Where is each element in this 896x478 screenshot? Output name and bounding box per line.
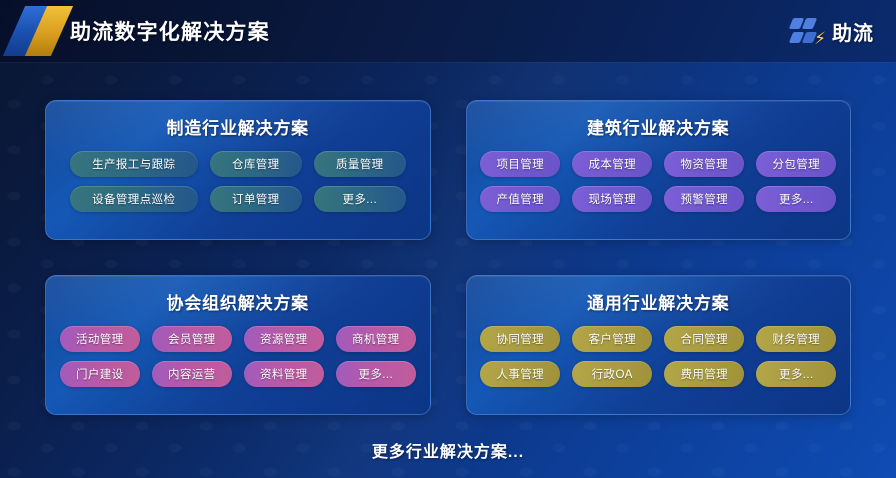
solution-pill[interactable]: 预警管理 (664, 186, 744, 212)
card-title: 建筑行业解决方案 (587, 114, 729, 139)
solution-card-manufacturing: 制造行业解决方案生产报工与跟踪仓库管理质量管理设备管理点巡检订单管理更多... (45, 100, 431, 240)
page-title: 助流数字化解决方案 (70, 16, 270, 46)
pill-row: 设备管理点巡检订单管理更多... (64, 186, 412, 212)
solution-pill[interactable]: 人事管理 (480, 361, 560, 387)
footer-more-solutions: 更多行业解决方案... (0, 438, 896, 462)
solution-pill[interactable]: 仓库管理 (210, 151, 302, 177)
solution-pill[interactable]: 资料管理 (244, 361, 324, 387)
solution-pill[interactable]: 门户建设 (60, 361, 140, 387)
solution-pill[interactable]: 资源管理 (244, 326, 324, 352)
pill-row: 人事管理行政OA费用管理更多... (485, 361, 833, 387)
solution-pill[interactable]: 合同管理 (664, 326, 744, 352)
zhuliu-slash-logo-icon (0, 0, 66, 62)
solution-pill[interactable]: 财务管理 (756, 326, 836, 352)
solution-pill[interactable]: 行政OA (572, 361, 652, 387)
solution-pill[interactable]: 更多... (756, 186, 836, 212)
pill-row: 协同管理客户管理合同管理财务管理 (485, 326, 833, 352)
solution-pill[interactable]: 设备管理点巡检 (70, 186, 198, 212)
pill-row: 门户建设内容运营资料管理更多... (64, 361, 412, 387)
brand-name: 助流 (832, 17, 874, 46)
brand-square-2 (802, 18, 817, 29)
solution-pill[interactable]: 订单管理 (210, 186, 302, 212)
card-pill-rows: 生产报工与跟踪仓库管理质量管理设备管理点巡检订单管理更多... (46, 151, 430, 221)
solution-pill[interactable]: 成本管理 (572, 151, 652, 177)
pill-row: 活动管理会员管理资源管理商机管理 (64, 326, 412, 352)
card-title: 通用行业解决方案 (587, 289, 729, 314)
solution-pill[interactable]: 物资管理 (664, 151, 744, 177)
page-header: 助流数字化解决方案 ⚡ 助流 (0, 0, 896, 62)
solution-card-grid: 制造行业解决方案生产报工与跟踪仓库管理质量管理设备管理点巡检订单管理更多...建… (0, 62, 896, 415)
lightning-bolt-icon: ⚡ (814, 30, 826, 47)
card-pill-rows: 协同管理客户管理合同管理财务管理人事管理行政OA费用管理更多... (467, 326, 851, 396)
solution-pill[interactable]: 项目管理 (480, 151, 560, 177)
solution-card-general: 通用行业解决方案协同管理客户管理合同管理财务管理人事管理行政OA费用管理更多..… (466, 275, 852, 415)
card-title: 协会组织解决方案 (167, 289, 309, 314)
solution-card-association: 协会组织解决方案活动管理会员管理资源管理商机管理门户建设内容运营资料管理更多..… (45, 275, 431, 415)
card-pill-rows: 活动管理会员管理资源管理商机管理门户建设内容运营资料管理更多... (46, 326, 430, 396)
solution-pill[interactable]: 协同管理 (480, 326, 560, 352)
zhuliu-bolt-icon: ⚡ (791, 16, 825, 46)
solution-pill[interactable]: 内容运营 (152, 361, 232, 387)
card-title: 制造行业解决方案 (167, 114, 309, 139)
solution-pill[interactable]: 商机管理 (336, 326, 416, 352)
pill-row: 生产报工与跟踪仓库管理质量管理 (64, 151, 412, 177)
solution-pill[interactable]: 会员管理 (152, 326, 232, 352)
solution-pill[interactable]: 客户管理 (572, 326, 652, 352)
solution-pill[interactable]: 质量管理 (314, 151, 406, 177)
card-pill-rows: 项目管理成本管理物资管理分包管理产值管理现场管理预警管理更多... (467, 151, 851, 221)
solution-pill[interactable]: 活动管理 (60, 326, 140, 352)
pill-row: 产值管理现场管理预警管理更多... (485, 186, 833, 212)
solution-pill[interactable]: 现场管理 (572, 186, 652, 212)
pill-row: 项目管理成本管理物资管理分包管理 (485, 151, 833, 177)
brand-logo: ⚡ 助流 (791, 16, 896, 46)
solution-pill[interactable]: 更多... (756, 361, 836, 387)
solution-pill[interactable]: 分包管理 (756, 151, 836, 177)
solution-pill[interactable]: 产值管理 (480, 186, 560, 212)
solution-pill[interactable]: 更多... (336, 361, 416, 387)
solution-pill[interactable]: 更多... (314, 186, 406, 212)
solution-card-construction: 建筑行业解决方案项目管理成本管理物资管理分包管理产值管理现场管理预警管理更多..… (466, 100, 852, 240)
solution-pill[interactable]: 费用管理 (664, 361, 744, 387)
solution-pill[interactable]: 生产报工与跟踪 (70, 151, 198, 177)
